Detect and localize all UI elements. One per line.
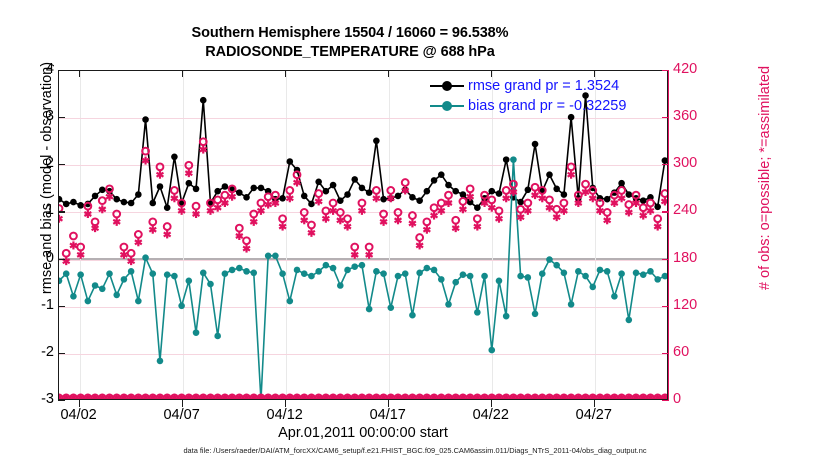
obs-possible-marker [640, 204, 647, 211]
data-point [186, 277, 193, 284]
obs-possible-marker [157, 163, 164, 170]
obs-assimilated-marker [560, 207, 567, 215]
obs-possible-marker [214, 196, 221, 203]
y-tick-label-right: 120 [673, 297, 719, 313]
obs-possible-marker [128, 250, 135, 257]
data-point [460, 191, 467, 198]
obs-assimilated-marker [308, 229, 315, 237]
x-tick-mark [285, 400, 286, 407]
obs-assimilated-marker [351, 251, 358, 259]
obs-possible-marker [553, 206, 560, 213]
data-point [164, 204, 171, 211]
obs-assimilated-marker [77, 251, 84, 259]
data-point [626, 191, 633, 198]
x-tick-mark-top [285, 70, 286, 77]
data-point [142, 116, 149, 123]
data-point [236, 189, 243, 196]
data-point [597, 267, 604, 274]
y-axis-left-label: rmse and bias (model - observation) [39, 13, 55, 343]
obs-possible-marker [308, 222, 315, 229]
data-point [294, 267, 301, 274]
data-point [186, 180, 193, 187]
obs-possible-marker [654, 215, 661, 222]
obs-possible-marker [625, 201, 632, 208]
data-point [402, 270, 409, 277]
data-point [460, 271, 467, 278]
data-point [279, 270, 286, 277]
data-point [452, 279, 459, 286]
data-point [351, 176, 358, 183]
data-point [611, 293, 618, 300]
data-point [222, 270, 229, 277]
data-point [359, 262, 366, 269]
obs-possible-marker [236, 225, 243, 232]
obs-assimilated-marker [142, 157, 149, 165]
obs-assimilated-marker [58, 215, 62, 223]
data-file-footer: data file: /Users/raeder/DAI/ATM_forcXX/… [0, 446, 830, 455]
data-point [366, 189, 373, 196]
obs-possible-marker [70, 233, 77, 240]
obs-possible-marker [409, 212, 416, 219]
y-tick-label-left: -3 [14, 391, 54, 407]
obs-possible-marker [250, 211, 257, 218]
obs-assimilated-marker [395, 216, 402, 224]
x-tick-label: 04/22 [456, 407, 526, 423]
obs-possible-marker [452, 217, 459, 224]
obs-possible-marker [474, 215, 481, 222]
data-point [488, 188, 495, 195]
data-point [424, 188, 431, 195]
x-tick-mark [491, 400, 492, 407]
x-axis-ticks: 04/0204/0704/1204/1704/2204/27 [58, 400, 668, 426]
data-point [525, 187, 532, 194]
obs-possible-marker [532, 184, 539, 191]
y-tick-mark-right [662, 306, 669, 307]
data-point [77, 271, 84, 278]
obs-assimilated-marker [207, 207, 214, 215]
data-point [604, 268, 611, 275]
obs-possible-marker [63, 250, 70, 257]
data-point [92, 282, 99, 289]
data-point [250, 185, 257, 192]
obs-possible-marker [445, 192, 452, 199]
data-point [416, 197, 423, 204]
obs-assimilated-marker [135, 238, 142, 246]
data-point [452, 188, 459, 195]
data-point [344, 267, 351, 274]
obs-possible-marker [373, 187, 380, 194]
data-point [467, 273, 474, 280]
data-point [366, 306, 373, 313]
data-point [315, 268, 322, 275]
data-point [344, 191, 351, 198]
obs-assimilated-marker [185, 169, 192, 177]
obs-assimilated-marker [373, 194, 380, 202]
obs-possible-marker [416, 234, 423, 241]
data-point [503, 156, 510, 163]
obs-assimilated-marker [70, 241, 77, 249]
obs-assimilated-marker [416, 241, 423, 249]
data-point [121, 199, 128, 206]
obs-possible-marker [164, 223, 171, 230]
obs-assimilated-marker [582, 188, 589, 196]
data-point [149, 200, 156, 207]
data-point [128, 268, 135, 275]
obs-assimilated-marker [330, 207, 337, 215]
y-tick-label-left: -2 [14, 344, 54, 360]
x-tick-label: 04/27 [559, 407, 629, 423]
obs-possible-marker [359, 200, 366, 207]
data-point [243, 268, 250, 275]
data-point [142, 254, 149, 261]
data-point [63, 201, 70, 208]
data-point [323, 188, 330, 195]
obs-assimilated-marker [322, 215, 329, 223]
obs-assimilated-marker [366, 251, 373, 259]
obs-assimilated-marker [553, 213, 560, 221]
data-point [380, 196, 387, 203]
legend-swatch-rmse [430, 79, 464, 93]
obs-assimilated-marker [625, 208, 632, 216]
obs-possible-marker [337, 209, 344, 216]
data-point [380, 270, 387, 277]
legend-item-bias[interactable]: bias grand pr = -0.32259 [430, 96, 626, 116]
obs-assimilated-marker [358, 207, 365, 215]
obs-assimilated-marker [178, 207, 185, 215]
data-point [654, 276, 661, 283]
data-point [106, 270, 113, 277]
obs-possible-marker [315, 190, 322, 197]
obs-assimilated-marker [301, 216, 308, 224]
obs-assimilated-marker [286, 194, 293, 202]
data-point [323, 262, 330, 269]
obs-assimilated-marker [279, 223, 286, 231]
data-point [424, 265, 431, 272]
obs-possible-marker [366, 244, 373, 251]
data-point [229, 267, 236, 274]
obs-possible-marker [344, 215, 351, 222]
data-point [553, 186, 560, 193]
data-point [272, 253, 279, 260]
data-point [121, 276, 128, 283]
data-point [445, 301, 452, 308]
y-tick-label-right: 300 [673, 155, 719, 171]
obs-possible-marker [330, 200, 337, 207]
obs-assimilated-marker [517, 213, 524, 221]
data-point [359, 185, 366, 192]
data-point [517, 273, 524, 280]
figure-root: Southern Hemisphere 15504 / 16060 = 96.5… [0, 0, 830, 470]
y-tick-mark-left [58, 353, 65, 354]
obs-possible-marker [258, 200, 265, 207]
obs-possible-marker [286, 187, 293, 194]
obs-assimilated-marker [661, 197, 668, 205]
obs-assimilated-marker [157, 171, 164, 179]
obs-assimilated-marker [488, 204, 495, 212]
obs-assimilated-marker [344, 223, 351, 231]
data-point [409, 312, 416, 319]
data-point [387, 304, 394, 311]
obs-possible-marker [431, 204, 438, 211]
data-point [481, 273, 488, 280]
obs-assimilated-marker [164, 230, 171, 238]
data-point [301, 193, 308, 200]
obs-possible-marker [460, 198, 467, 205]
plot-area[interactable] [58, 70, 668, 400]
data-point [395, 273, 402, 280]
x-tick-label: 04/12 [250, 407, 320, 423]
data-point [438, 171, 445, 178]
x-tick-label: 04/02 [44, 407, 114, 423]
y-tick-label-right: 240 [673, 202, 719, 218]
data-point [553, 262, 560, 269]
data-point [582, 273, 589, 280]
data-point [157, 183, 164, 190]
x-tick-mark-top [182, 70, 183, 77]
x-tick-mark-top [79, 70, 80, 77]
obs-possible-marker [604, 209, 611, 216]
obs-assimilated-marker [445, 199, 452, 207]
y-tick-mark-left [58, 117, 65, 118]
obs-assimilated-marker [171, 194, 178, 202]
y-tick-mark-right [662, 259, 669, 260]
data-point [330, 182, 337, 189]
data-point [626, 317, 633, 324]
obs-possible-marker [77, 244, 84, 251]
obs-assimilated-marker [618, 194, 625, 202]
x-axis-label: Apr.01,2011 00:00:00 start [58, 425, 668, 441]
obs-assimilated-marker [193, 210, 200, 218]
obs-assimilated-marker [503, 194, 510, 202]
data-point [279, 195, 286, 202]
x-tick-mark-top [594, 70, 595, 77]
data-point [171, 273, 178, 280]
obs-assimilated-marker [654, 223, 661, 231]
data-point [265, 253, 272, 260]
data-point [308, 201, 315, 208]
data-point [207, 281, 214, 288]
obs-possible-marker [185, 162, 192, 169]
data-point [222, 183, 229, 190]
obs-possible-marker [193, 203, 200, 210]
data-point [99, 187, 106, 194]
data-point [546, 256, 553, 263]
chart-title-line2: RADIOSONDE_TEMPERATURE @ 688 hPa [0, 43, 700, 62]
data-point [546, 171, 553, 178]
obs-assimilated-marker [120, 251, 127, 259]
x-tick-label: 04/07 [147, 407, 217, 423]
data-point [250, 269, 257, 276]
data-point [561, 269, 568, 276]
obs-possible-marker [351, 244, 358, 251]
data-point [149, 270, 156, 277]
data-point [337, 282, 344, 289]
obs-assimilated-marker [409, 219, 416, 227]
obs-possible-marker [488, 196, 495, 203]
obs-assimilated-marker [265, 201, 272, 209]
data-point [113, 196, 120, 203]
obs-assimilated-marker [99, 205, 106, 213]
y-tick-mark-left [58, 306, 65, 307]
x-tick-mark [594, 400, 595, 407]
chart-title-line1: Southern Hemisphere 15504 / 16060 = 96.5… [0, 24, 700, 43]
obs-possible-marker [113, 211, 120, 218]
data-point [532, 141, 539, 148]
y-tick-mark-left [58, 211, 65, 212]
chart-title: Southern Hemisphere 15504 / 16060 = 96.5… [0, 24, 700, 62]
data-point [532, 310, 539, 317]
data-point [308, 273, 315, 280]
obs-possible-marker [99, 197, 106, 204]
y-axis-right-label: # of obs: o=possible; *=assimilated [757, 13, 773, 343]
data-point [409, 194, 416, 201]
obs-assimilated-marker [337, 216, 344, 224]
obs-possible-marker [395, 209, 402, 216]
data-point [287, 298, 294, 305]
obs-assimilated-marker [647, 207, 654, 215]
obs-assimilated-marker [214, 204, 221, 212]
obs-assimilated-marker [452, 224, 459, 232]
obs-assimilated-marker [589, 194, 596, 202]
data-point [330, 265, 337, 272]
data-point [640, 271, 647, 278]
data-point [568, 301, 575, 308]
data-point [301, 270, 308, 277]
x-tick-mark-top [388, 70, 389, 77]
x-tick-mark-top [491, 70, 492, 77]
data-point [337, 197, 344, 204]
obs-assimilated-marker [539, 194, 546, 202]
obs-possible-marker [467, 185, 474, 192]
obs-possible-marker [301, 209, 308, 216]
chart-legend: rmse grand pr = 1.3524 bias grand pr = -… [430, 76, 626, 116]
obs-possible-marker [387, 187, 394, 194]
obs-possible-marker [423, 218, 430, 225]
x-tick-mark [182, 400, 183, 407]
y-tick-label-right: 180 [673, 250, 719, 266]
obs-possible-marker [517, 206, 524, 213]
obs-possible-marker [149, 218, 156, 225]
obs-assimilated-marker [229, 193, 236, 201]
obs-assimilated-marker [431, 212, 438, 220]
obs-assimilated-marker [596, 207, 603, 215]
obs-assimilated-marker [200, 146, 207, 154]
data-point [517, 199, 524, 206]
obs-possible-marker [402, 179, 409, 186]
x-tick-mark [388, 400, 389, 407]
data-point [135, 191, 142, 198]
y-tick-mark-right [662, 400, 669, 401]
obs-assimilated-marker [423, 226, 430, 234]
x-tick-mark [79, 400, 80, 407]
data-point [214, 333, 221, 340]
obs-assimilated-marker [257, 207, 264, 215]
data-point [416, 269, 423, 276]
data-point [618, 180, 625, 187]
obs-assimilated-marker [524, 207, 531, 215]
obs-possible-marker [568, 163, 575, 170]
data-point [70, 293, 77, 300]
obs-assimilated-marker [546, 204, 553, 212]
y-axis-right-line [668, 70, 669, 400]
obs-assimilated-marker [611, 199, 618, 207]
data-point [287, 158, 294, 165]
legend-item-rmse[interactable]: rmse grand pr = 1.3524 [430, 76, 626, 96]
legend-label-bias: bias grand pr = -0.32259 [468, 96, 626, 116]
obs-possible-marker [171, 187, 178, 194]
data-point [618, 270, 625, 277]
data-point [200, 97, 207, 104]
data-series-layer [59, 71, 668, 400]
data-point [496, 277, 503, 284]
obs-possible-marker [496, 207, 503, 214]
y-tick-mark-right [662, 164, 669, 165]
obs-assimilated-marker [149, 226, 156, 234]
legend-swatch-bias [430, 99, 464, 113]
data-point [510, 156, 517, 163]
data-point [200, 269, 207, 276]
data-point [351, 263, 358, 270]
data-point [604, 196, 611, 203]
data-point [589, 284, 596, 291]
y-tick-mark-right [662, 353, 669, 354]
obs-assimilated-marker [250, 218, 257, 226]
y-tick-label-right: 360 [673, 108, 719, 124]
data-point [171, 154, 178, 161]
data-point [438, 276, 445, 283]
obs-assimilated-marker [221, 199, 228, 207]
obs-possible-marker [438, 200, 445, 207]
data-point [525, 274, 532, 281]
obs-assimilated-marker [604, 216, 611, 224]
obs-assimilated-marker [640, 212, 647, 220]
x-tick-label: 04/17 [353, 407, 423, 423]
obs-assimilated-marker [532, 191, 539, 199]
obs-assimilated-marker [496, 215, 503, 223]
data-point [633, 269, 640, 276]
data-point [647, 268, 654, 275]
data-point [193, 329, 200, 336]
obs-possible-marker [582, 181, 589, 188]
y-tick-mark-left [58, 164, 65, 165]
data-point [164, 271, 171, 278]
obs-possible-marker [221, 192, 228, 199]
obs-assimilated-marker [84, 210, 91, 218]
data-point [236, 265, 243, 272]
obs-possible-marker [380, 211, 387, 218]
data-point [496, 190, 503, 197]
obs-possible-marker [121, 244, 128, 251]
y-tick-mark-left [58, 259, 65, 260]
data-point [77, 202, 84, 209]
data-point [157, 358, 164, 365]
y-tick-mark-right [662, 117, 669, 118]
obs-assimilated-marker [236, 232, 243, 240]
y-tick-label-right: 60 [673, 344, 719, 360]
data-point [113, 292, 120, 299]
data-point [445, 182, 452, 189]
data-point [214, 188, 221, 195]
obs-possible-marker [503, 187, 510, 194]
data-point [431, 267, 438, 274]
obs-possible-marker [243, 237, 250, 244]
obs-assimilated-marker [380, 218, 387, 226]
data-point [431, 177, 438, 184]
y-axis-right-ticks: 420360300240180120600 [673, 70, 733, 400]
data-point [85, 298, 92, 305]
data-point [258, 185, 265, 192]
y-tick-mark-left [58, 400, 65, 401]
